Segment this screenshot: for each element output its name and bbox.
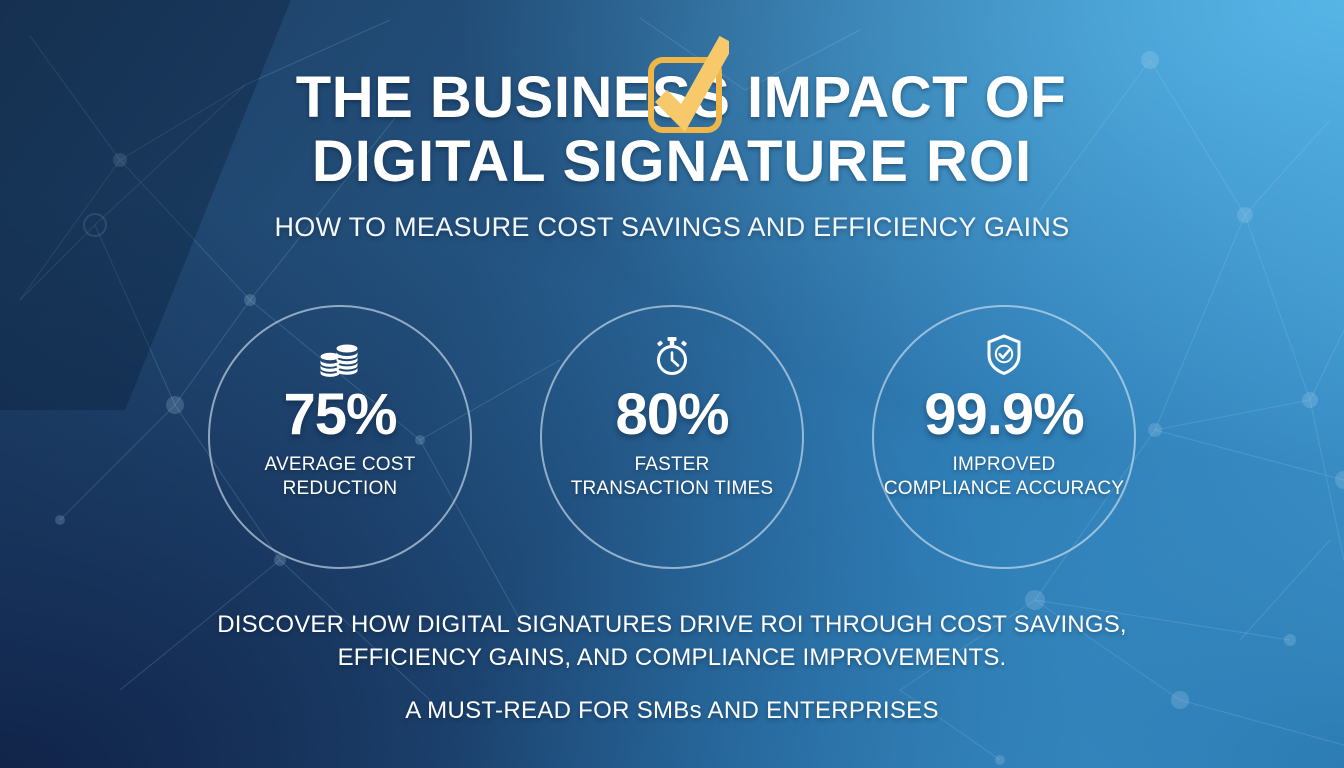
stopwatch-icon — [652, 335, 692, 377]
stat-value: 80% — [615, 385, 728, 445]
stat-label-line-2: TRANSACTION TIMES — [571, 477, 774, 501]
stat-circle-cost-reduction: 75% AVERAGE COST REDUCTION — [208, 305, 472, 569]
header-block: THE BUSINESS IMPACT OF DIGITAL SIGNATURE… — [0, 66, 1344, 243]
stat-label-line-1: AVERAGE COST — [265, 453, 416, 477]
shield-check-icon — [985, 335, 1023, 377]
stat-label-line-2: REDUCTION — [265, 477, 416, 501]
page-title-line-1: THE BUSINESS IMPACT OF — [0, 66, 1344, 130]
stat-label: AVERAGE COST REDUCTION — [265, 453, 416, 501]
stat-circle-compliance-accuracy: 99.9% IMPROVED COMPLIANCE ACCURACY — [872, 305, 1136, 569]
stats-row: 75% AVERAGE COST REDUCTION — [0, 305, 1344, 569]
stat-value: 75% — [283, 385, 396, 445]
footer-description-line-1: DISCOVER HOW DIGITAL SIGNATURES DRIVE RO… — [0, 608, 1344, 641]
footer-block: DISCOVER HOW DIGITAL SIGNATURES DRIVE RO… — [0, 608, 1344, 726]
stat-value: 99.9% — [924, 385, 1083, 445]
footer-description: DISCOVER HOW DIGITAL SIGNATURES DRIVE RO… — [0, 608, 1344, 674]
stat-label-line-1: IMPROVED — [884, 453, 1124, 477]
page-subtitle: HOW TO MEASURE COST SAVINGS AND EFFICIEN… — [0, 212, 1344, 243]
page-title-line-2: DIGITAL SIGNATURE ROI — [0, 130, 1344, 194]
stat-label-line-2: COMPLIANCE ACCURACY — [884, 477, 1124, 501]
stat-label-line-1: FASTER — [571, 453, 774, 477]
coin-stack-icon — [319, 335, 361, 377]
stat-label: FASTER TRANSACTION TIMES — [571, 453, 774, 501]
stat-label: IMPROVED COMPLIANCE ACCURACY — [884, 453, 1124, 501]
stat-circle-faster-transactions: 80% FASTER TRANSACTION TIMES — [540, 305, 804, 569]
footer-call-to-action: A MUST-READ FOR SMBs AND ENTERPRISES — [0, 696, 1344, 726]
footer-description-line-2: EFFICIENCY GAINS, AND COMPLIANCE IMPROVE… — [0, 641, 1344, 674]
infographic-canvas: THE BUSINESS IMPACT OF DIGITAL SIGNATURE… — [0, 0, 1344, 768]
